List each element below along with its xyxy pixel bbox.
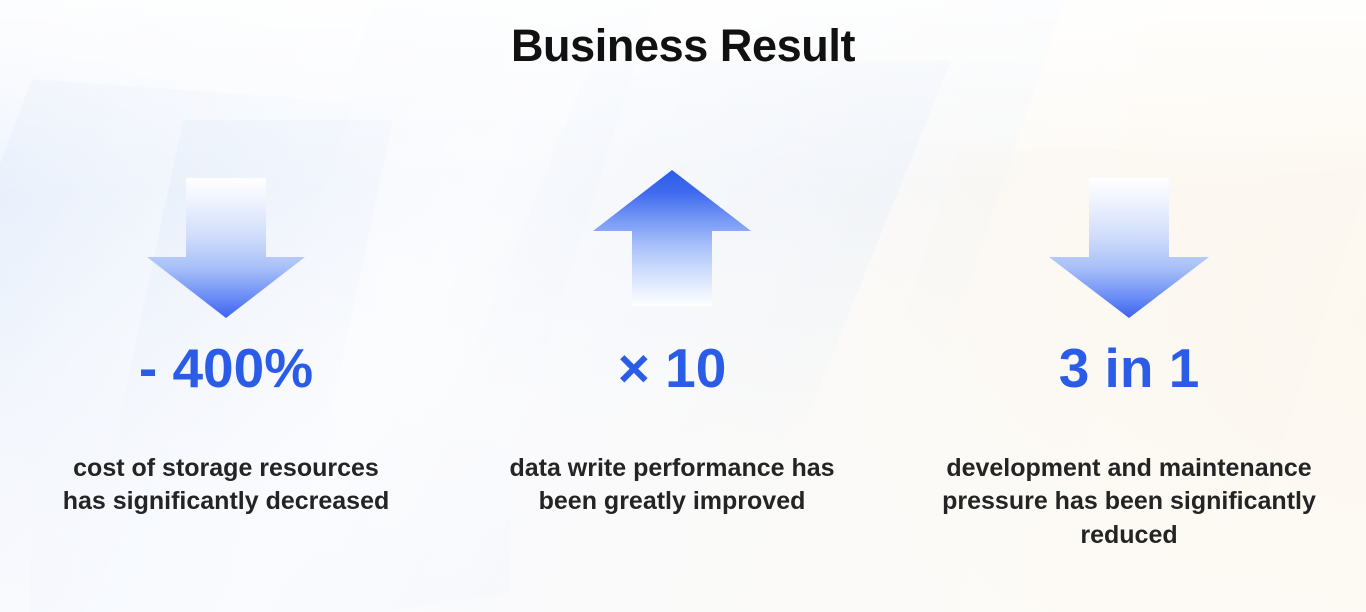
- business-result-slide: Business Result: [0, 0, 1366, 612]
- arrow-down-icon: [0, 178, 452, 328]
- metric-card-storage-cost: - 400% cost of storage resources has sig…: [0, 0, 452, 612]
- metric-card-write-performance: × 10 data write performance has been gre…: [452, 0, 892, 612]
- page-title: Business Result: [0, 20, 1366, 72]
- arrow-down-icon: [892, 178, 1366, 328]
- metrics-row: - 400% cost of storage resources has sig…: [0, 0, 1366, 612]
- metric-value: × 10: [452, 340, 892, 398]
- arrow-up-icon: [452, 170, 892, 320]
- metric-caption: data write performance has been greatly …: [452, 452, 892, 519]
- metric-value: 3 in 1: [892, 340, 1366, 398]
- metric-card-dev-maintenance: 3 in 1 development and maintenance press…: [892, 0, 1366, 612]
- metric-caption: development and maintenance pressure has…: [892, 452, 1366, 552]
- metric-caption: cost of storage resources has significan…: [0, 452, 452, 519]
- metric-value: - 400%: [0, 340, 452, 398]
